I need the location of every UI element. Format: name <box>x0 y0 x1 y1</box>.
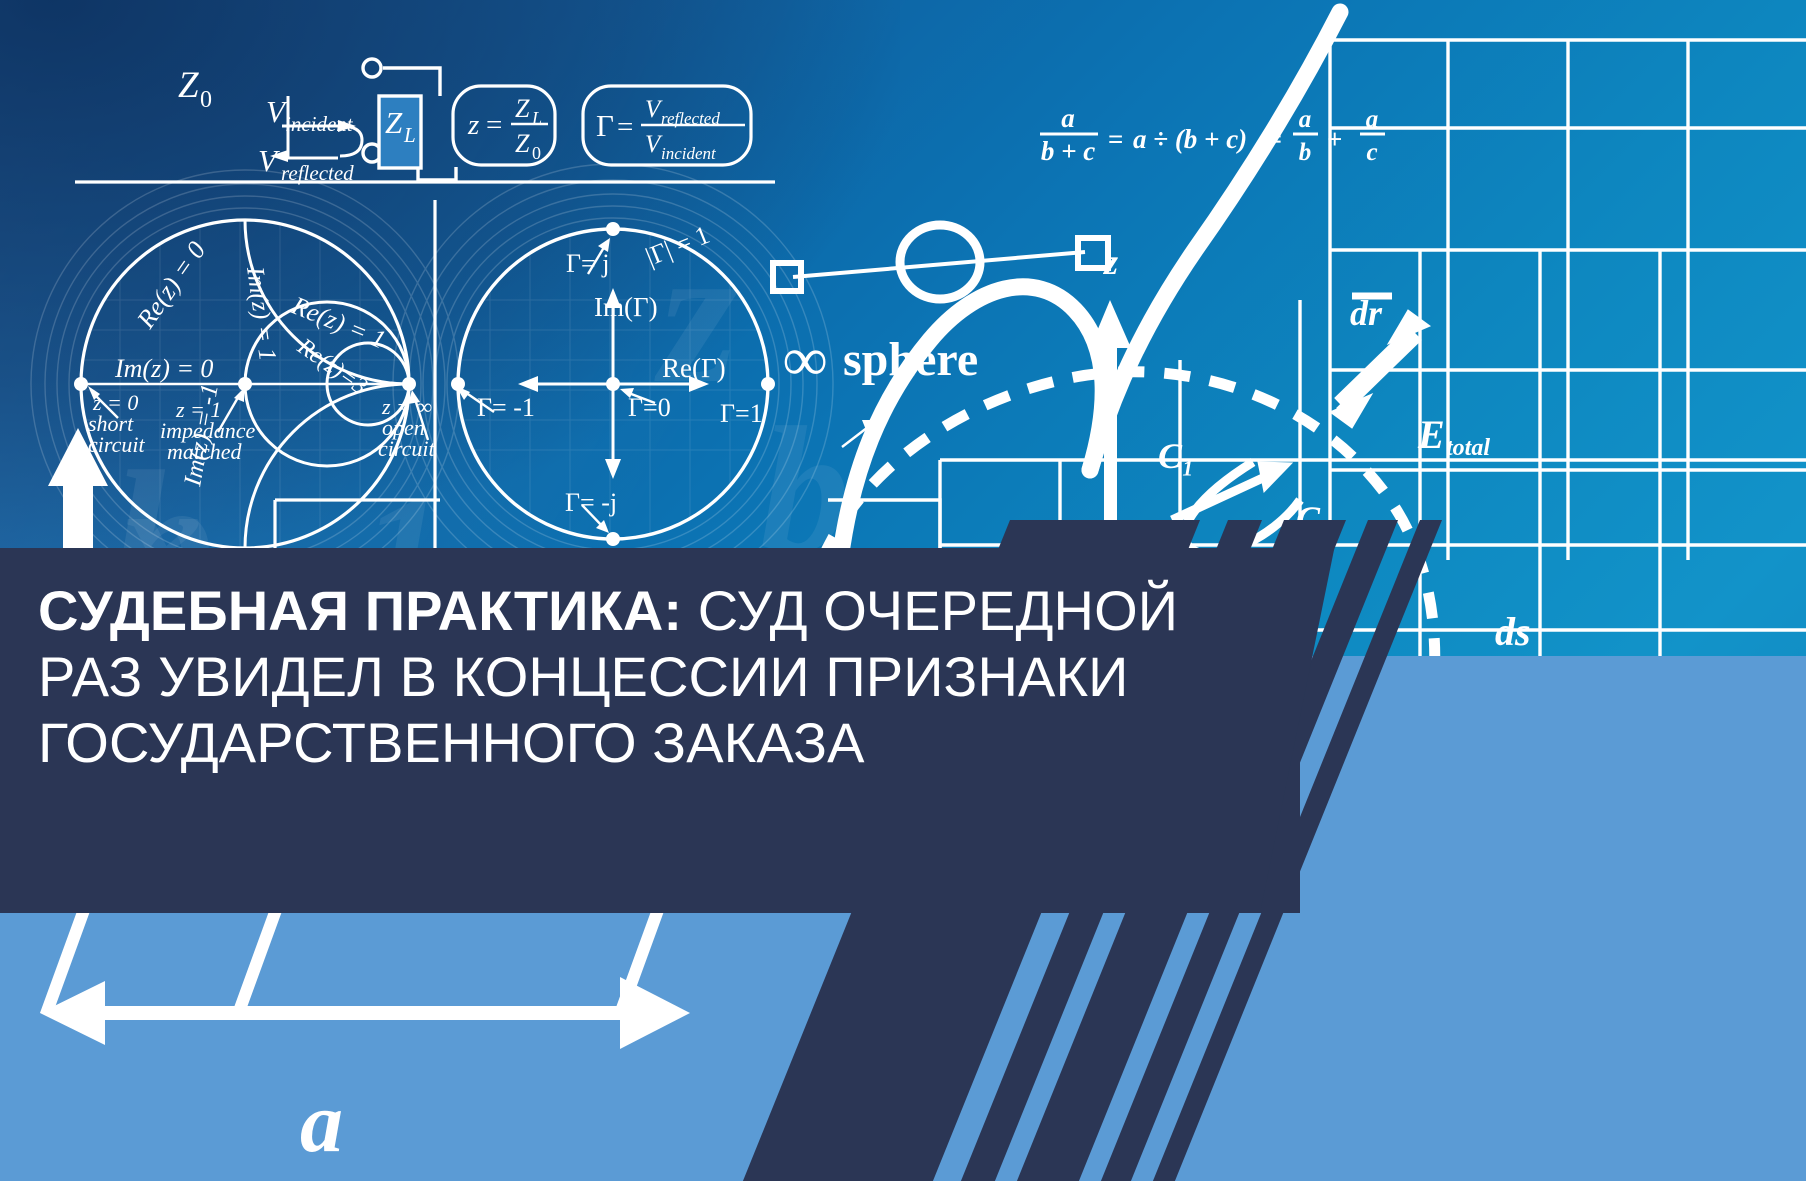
fi-t2-den: c <box>1366 139 1377 166</box>
ann-matched-l3: matched <box>167 439 243 464</box>
fi-mid: a ÷ (b + c) <box>1133 124 1247 154</box>
zl-symbol: Z <box>385 105 403 140</box>
formula1-numerator: Z <box>515 94 530 123</box>
title-bold-part: СУДЕБНАЯ ПРАКТИКА: <box>38 579 682 642</box>
v-reflected-subscript: reflected <box>281 161 354 185</box>
loop-tie-line <box>793 252 1085 277</box>
ann-short-l3: circuit <box>88 432 145 457</box>
sphere-word: sphere <box>843 333 978 386</box>
formula1-denominator: Z <box>515 129 530 158</box>
fi-den: b + c <box>1041 136 1095 166</box>
gamma-point-0: Γ=0 <box>628 393 671 422</box>
terminal-top <box>363 59 381 77</box>
formula2-equals: = <box>617 111 633 143</box>
zl-subscript: L <box>403 123 416 147</box>
ann-open-l3: circuit <box>378 436 435 461</box>
z0-symbol: Z <box>178 65 199 106</box>
right-grid <box>1330 40 1806 560</box>
label-re-z-0: Re(z) = 0 <box>131 236 212 334</box>
fi-num: a <box>1061 103 1075 133</box>
e-field-label: E <box>1417 412 1445 457</box>
e-total-subscript: total <box>1446 435 1490 461</box>
gamma-point-1: Γ=1 <box>720 399 763 428</box>
gamma-point-neg1: Γ= -1 <box>477 393 535 422</box>
infinity-symbol: ∞ <box>783 326 827 394</box>
gamma-axis-real: Re(Γ) <box>662 353 726 383</box>
fraction-identity: a b + c = a ÷ (b + c) ≠ a b + a c <box>1040 103 1385 166</box>
gamma-point-neg-j: Γ= -j <box>565 488 617 517</box>
formula2-denominator-sub: incident <box>661 144 717 163</box>
gamma-unit-circle: |Γ| = 1 <box>641 220 713 272</box>
formula-box-normalized-impedance: z = Z L Z 0 <box>453 86 555 165</box>
fi-t1-num: a <box>1299 106 1312 133</box>
page-title: СУДЕБНАЯ ПРАКТИКА: СУД ОЧЕРЕДНОЙ РАЗ УВИ… <box>38 578 1218 775</box>
gamma-point-j: Γ= j <box>566 249 609 278</box>
slide-canvas: b z x b 1 <box>0 0 1806 1181</box>
formula1-lhs: z <box>467 109 479 141</box>
v-reflected-symbol: V <box>258 143 280 178</box>
fi-equals: = <box>1108 124 1123 154</box>
label-im-z-0: Im(z) = 0 <box>114 354 213 383</box>
formula-box-reflection-coefficient: Γ = V reflected V incident <box>583 86 751 165</box>
formula1-denominator-sub: 0 <box>532 143 541 163</box>
gamma-axis-imag: Im(Γ) <box>594 292 658 322</box>
v-incident-subscript: incident <box>285 112 354 136</box>
z0-subscript: 0 <box>200 87 212 113</box>
loop-z-label: z <box>1102 242 1118 282</box>
c1-curve-label: C₁ <box>1158 436 1195 476</box>
formula2-lhs: Γ <box>596 108 614 143</box>
formula1-equals: = <box>486 109 502 141</box>
fi-t1-den: b <box>1299 139 1312 166</box>
label-im-z-1: Im(z) = 1 <box>241 264 281 362</box>
